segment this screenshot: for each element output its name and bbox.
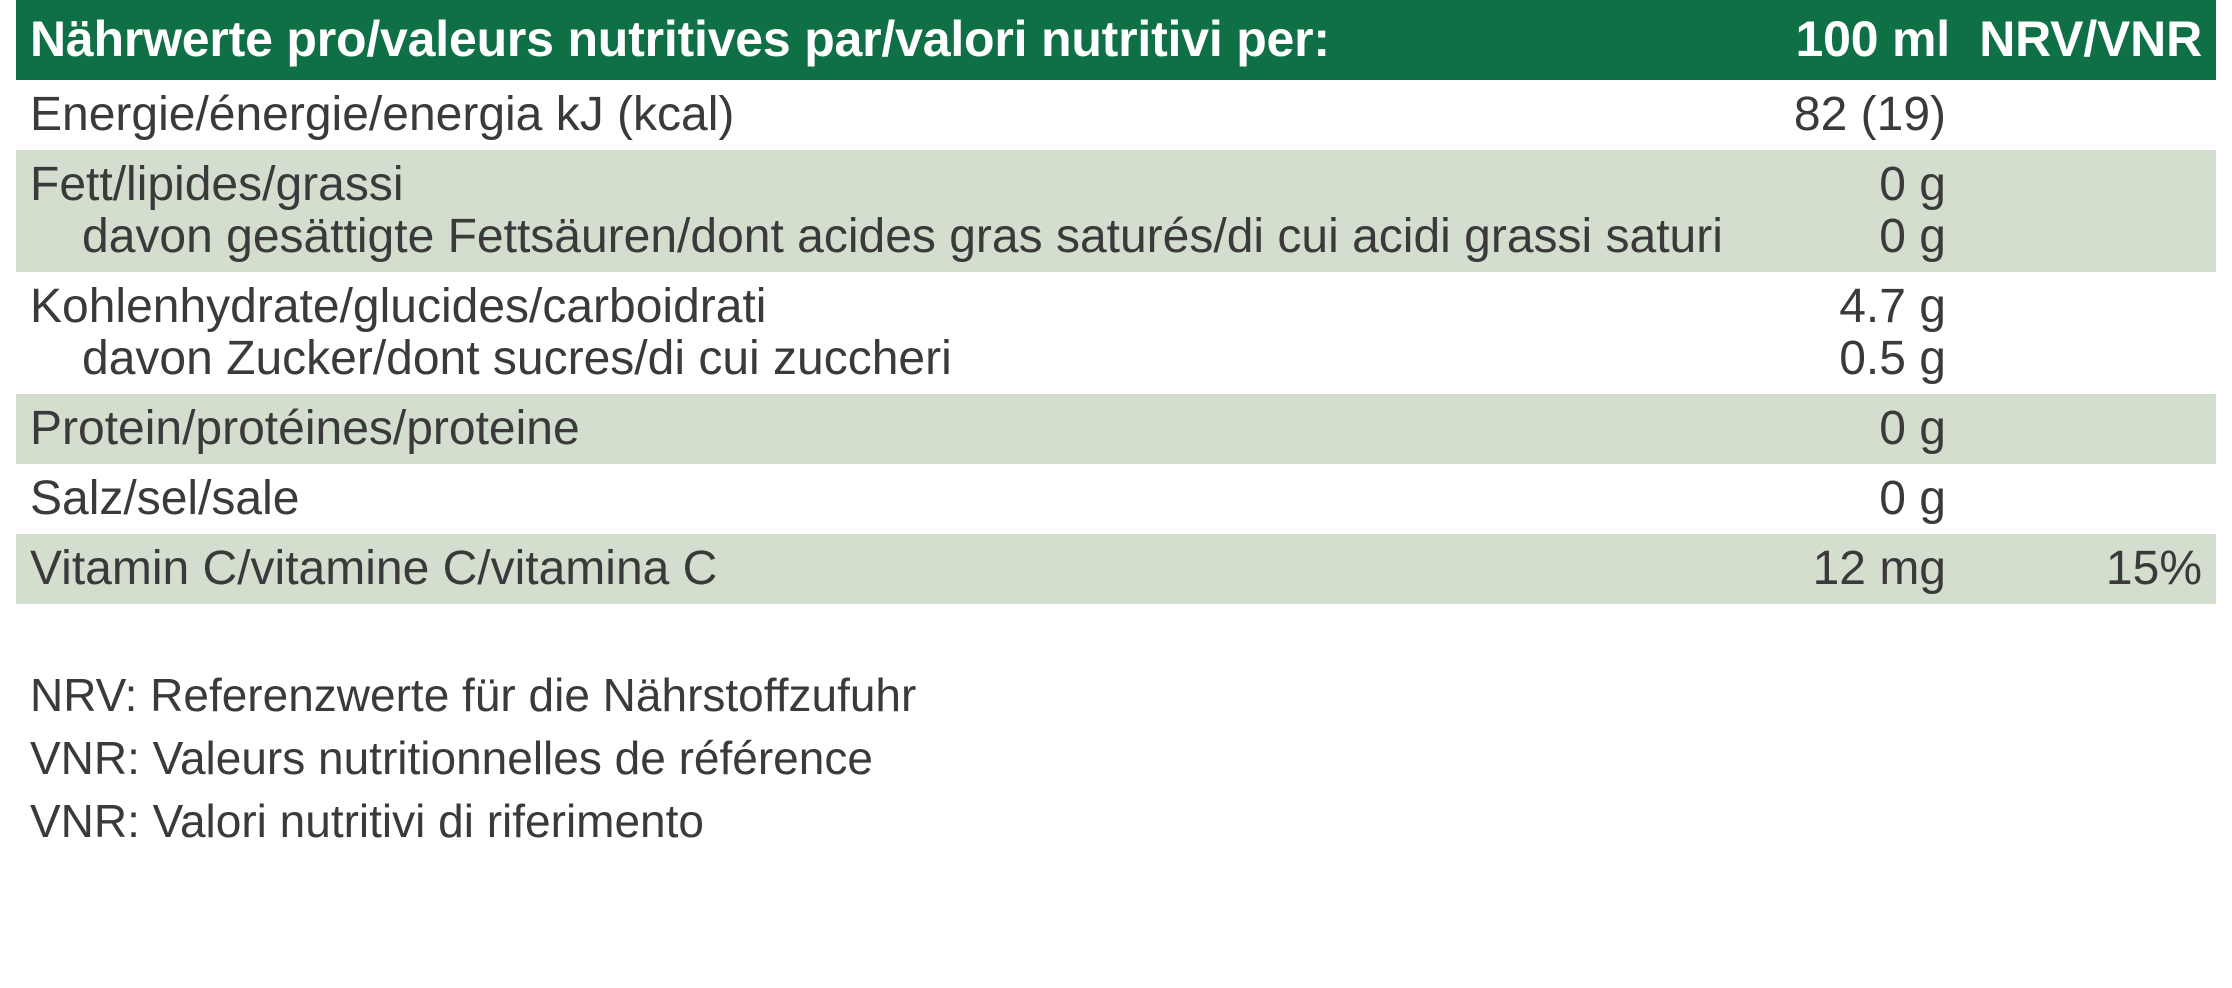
nutrient-label: Salz/sel/sale: [16, 464, 1680, 534]
footnote-vnr-fr: VNR: Valeurs nutritionnelles de référenc…: [30, 735, 2216, 781]
nutrient-label: Fett/lipides/grassi: [16, 150, 1680, 211]
nutrient-value: 82 (19): [1680, 80, 1960, 150]
nutrient-nrv: [1960, 211, 2216, 272]
nutrient-nrv: [1960, 80, 2216, 150]
nutrition-table: Nährwerte pro/valeurs nutritives par/val…: [16, 0, 2216, 604]
nutrient-nrv: [1960, 394, 2216, 464]
nutrient-value: 4.7 g: [1680, 272, 1960, 333]
header-value-column: 100 ml: [1680, 0, 1960, 80]
nutrient-nrv: 15%: [1960, 534, 2216, 604]
nutrient-value: 0 g: [1680, 150, 1960, 211]
table-row-saturates: davon gesättigte Fettsäuren/dont acides …: [16, 211, 2216, 272]
footnotes-block: NRV: Referenzwerte für die Nährstoffzufu…: [16, 672, 2216, 844]
nutrition-panel: Nährwerte pro/valeurs nutritives par/val…: [0, 0, 2232, 988]
table-row-salt: Salz/sel/sale 0 g: [16, 464, 2216, 534]
footnote-vnr-it: VNR: Valori nutritivi di riferimento: [30, 798, 2216, 844]
table-row-energy: Energie/énergie/energia kJ (kcal) 82 (19…: [16, 80, 2216, 150]
header-label-cell: Nährwerte pro/valeurs nutritives par/val…: [16, 0, 1680, 80]
table-row-carbohydrate: Kohlenhydrate/glucides/carboidrati 4.7 g: [16, 272, 2216, 333]
nutrient-nrv: [1960, 150, 2216, 211]
table-body: Energie/énergie/energia kJ (kcal) 82 (19…: [16, 80, 2216, 604]
table-row-vitamin-c: Vitamin C/vitamine C/vitamina C 12 mg 15…: [16, 534, 2216, 604]
table-row-protein: Protein/protéines/proteine 0 g: [16, 394, 2216, 464]
nutrient-label: davon Zucker/dont sucres/di cui zuccheri: [16, 333, 1680, 394]
nutrient-nrv: [1960, 333, 2216, 394]
table-header: Nährwerte pro/valeurs nutritives par/val…: [16, 0, 2216, 80]
table-row-fat: Fett/lipides/grassi 0 g: [16, 150, 2216, 211]
nutrient-value: 12 mg: [1680, 534, 1960, 604]
nutrient-nrv: [1960, 272, 2216, 333]
nutrient-value: 0 g: [1680, 464, 1960, 534]
nutrient-label: Energie/énergie/energia kJ (kcal): [16, 80, 1680, 150]
header-nrv-column: NRV/VNR: [1960, 0, 2216, 80]
nutrient-nrv: [1960, 464, 2216, 534]
nutrient-value: 0.5 g: [1680, 333, 1960, 394]
table-row-sugars: davon Zucker/dont sucres/di cui zuccheri…: [16, 333, 2216, 394]
nutrient-label: Kohlenhydrate/glucides/carboidrati: [16, 272, 1680, 333]
nutrient-label: davon gesättigte Fettsäuren/dont acides …: [16, 211, 1680, 272]
nutrient-value: 0 g: [1680, 394, 1960, 464]
header-row: Nährwerte pro/valeurs nutritives par/val…: [16, 0, 2216, 80]
nutrient-label: Protein/protéines/proteine: [16, 394, 1680, 464]
nutrient-label: Vitamin C/vitamine C/vitamina C: [16, 534, 1680, 604]
footnote-nrv-de: NRV: Referenzwerte für die Nährstoffzufu…: [30, 672, 2216, 718]
